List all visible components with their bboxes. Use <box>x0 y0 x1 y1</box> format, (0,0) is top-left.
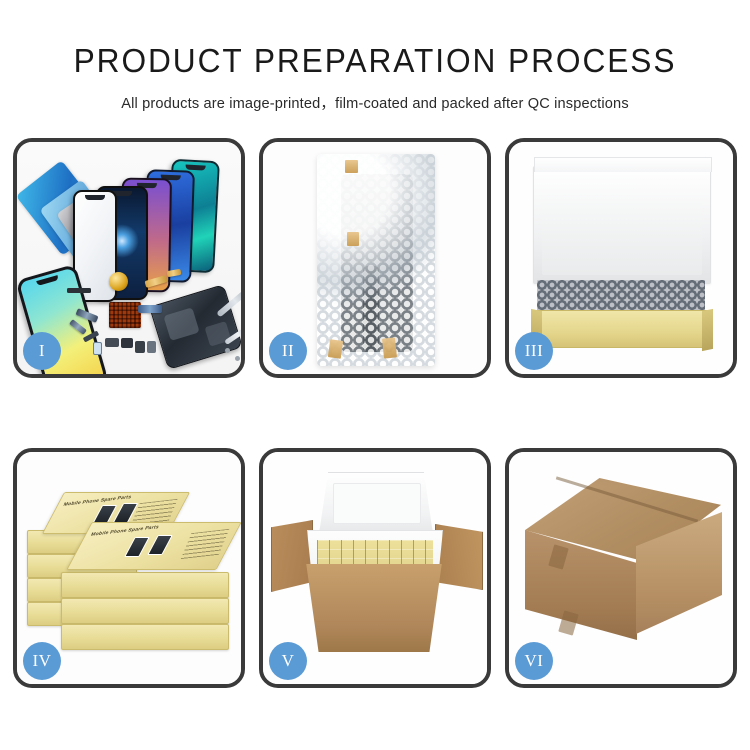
box-stack-icon: Mobile Phone Spare Parts Mobile Phone Sp… <box>25 474 237 660</box>
box-label-text: Mobile Phone Spare Parts <box>90 525 160 538</box>
step-badge-5: V <box>269 642 307 680</box>
carton-flap-icon <box>271 520 313 592</box>
yellow-box-lid-icon: Mobile Phone Spare Parts <box>66 522 241 570</box>
screw-icon <box>235 356 240 361</box>
process-step-1: I <box>13 138 245 378</box>
notch-icon <box>36 275 59 286</box>
box-spec-lines-icon <box>181 529 230 559</box>
page-header: PRODUCT PREPARATION PROCESS All products… <box>0 0 750 113</box>
tape-icon <box>347 232 359 246</box>
yellow-box-base-icon <box>531 310 713 348</box>
component-part-icon <box>121 338 133 348</box>
product-preparation-process-page: PRODUCT PREPARATION PROCESS All products… <box>0 0 750 750</box>
box-product-image-icon <box>124 537 150 557</box>
screw-icon <box>225 348 230 353</box>
tape-icon <box>345 160 358 173</box>
step-badge-4: IV <box>23 642 61 680</box>
notch-icon <box>85 195 105 200</box>
component-part-icon <box>67 288 91 293</box>
speaker-module-icon <box>109 272 128 291</box>
component-part-icon <box>105 338 119 347</box>
process-step-2: II <box>259 138 491 378</box>
yellow-box-icon <box>61 572 229 598</box>
foam-insert-icon <box>533 166 711 284</box>
box-product-image-icon <box>147 535 173 555</box>
step-badge-2: II <box>269 332 307 370</box>
process-step-4: Mobile Phone Spare Parts Mobile Phone Sp… <box>13 448 245 688</box>
process-step-grid: I II III <box>13 138 737 694</box>
yellow-box-icon <box>61 624 229 650</box>
component-part-icon <box>93 342 102 355</box>
copper-mesh-icon <box>109 302 141 328</box>
styrofoam-lid-icon <box>319 472 433 534</box>
flex-cable-icon <box>363 266 379 352</box>
bubble-wrap-layer-icon <box>537 280 705 314</box>
carton-body-icon <box>297 564 451 652</box>
wrapped-screen-icon <box>341 174 413 352</box>
page-subtitle: All products are image-printed，film-coat… <box>0 92 750 113</box>
bubble-wrap-bag-icon <box>317 154 435 366</box>
process-step-6: VI <box>505 448 737 688</box>
step-badge-1: I <box>23 332 61 370</box>
flex-cable-icon <box>138 305 162 313</box>
back-housing-icon <box>149 284 241 370</box>
step-badge-3: III <box>515 332 553 370</box>
page-title: PRODUCT PREPARATION PROCESS <box>15 42 735 80</box>
step-badge-6: VI <box>515 642 553 680</box>
yellow-box-icon <box>61 598 229 624</box>
notch-icon <box>185 165 205 171</box>
tape-icon <box>382 337 397 358</box>
component-part-icon <box>135 341 145 353</box>
tape-icon <box>328 339 343 359</box>
process-step-5: V <box>259 448 491 688</box>
component-part-icon <box>147 341 156 353</box>
process-step-3: III <box>505 138 737 378</box>
